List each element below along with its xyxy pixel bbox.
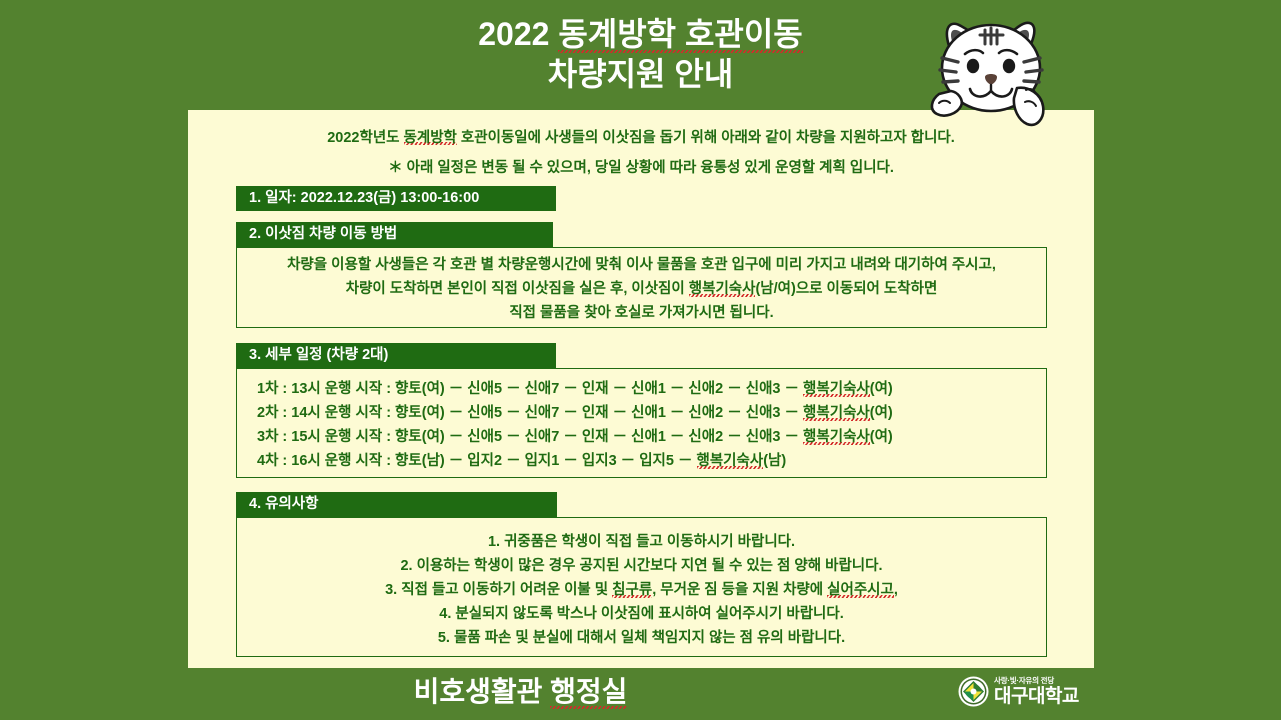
- notice-3-misspelled-2: 실어주시고: [827, 582, 894, 598]
- notice-3-misspelled-1: 침구류: [612, 582, 652, 598]
- route-2-misspelled: 행복기숙사: [803, 405, 870, 421]
- route-3-misspelled: 행복기숙사: [803, 429, 870, 445]
- intro-line-2: ＊ 아래 일정은 변동 될 수 있으며, 당일 상황에 따라 융통성 있게 운영…: [188, 160, 1094, 176]
- route-1-suffix: (여): [870, 381, 893, 397]
- route-4-misspelled: 행복기숙사: [697, 453, 764, 469]
- university-logo: 사랑·빛·자유의 전당 대구대학교: [958, 676, 1079, 707]
- section-header-schedule: 3. 세부 일정 (차량 2대): [236, 343, 556, 368]
- notice-3-b: , 무거운 짐 등을 지원 차량에: [652, 582, 827, 598]
- notice-item: 5. 물품 파손 및 분실에 대해서 일체 책임지지 않는 점 유의 바랍니다.: [237, 626, 1046, 650]
- route-row: 2차 : 14시 운행 시작 : 향토(여) － 신애5 － 신애7 － 인재 …: [237, 401, 1046, 425]
- method-line-2-b: (남/여)으로 이동되어 도착하면: [755, 281, 937, 297]
- section-header-notices: 4. 유의사항: [236, 492, 557, 517]
- footer-office-prefix: 비호생활관: [414, 676, 551, 707]
- section-header-date: 1. 일자: 2022.12.23(금) 13:00-16:00: [236, 186, 556, 211]
- title-line-1: 2022 동계방학 호관이동: [0, 14, 1281, 54]
- method-line-1: 차량을 이용할 사생들은 각 호관 별 차량운행시간에 맞춰 이사 물품을 호관…: [237, 253, 1046, 277]
- notice-3-a: 3. 직접 들고 이동하기 어려운 이불 및: [385, 582, 612, 598]
- section-body-schedule: 1차 : 13시 운행 시작 : 향토(여) － 신애5 － 신애7 － 인재 …: [236, 368, 1047, 478]
- route-1-text: 1차 : 13시 운행 시작 : 향토(여) － 신애5 － 신애7 － 인재 …: [257, 381, 803, 397]
- method-line-3: 직접 물품을 찾아 호실로 가져가시면 됩니다.: [237, 301, 1046, 325]
- notice-3-c: ,: [894, 582, 898, 598]
- route-row: 1차 : 13시 운행 시작 : 향토(여) － 신애5 － 신애7 － 인재 …: [237, 377, 1046, 401]
- section-body-method: 차량을 이용할 사생들은 각 호관 별 차량운행시간에 맞춰 이사 물품을 호관…: [236, 247, 1047, 328]
- title-line-2: 차량지원 안내: [0, 54, 1281, 94]
- route-1-misspelled: 행복기숙사: [803, 381, 870, 397]
- notice-panel: 2022학년도 동계방학 호관이동일에 사생들의 이삿짐을 돕기 위해 아래와 …: [188, 110, 1094, 668]
- section-body-notices: 1. 귀중품은 학생이 직접 들고 이동하시기 바랍니다. 2. 이용하는 학생…: [236, 517, 1047, 657]
- poster-title: 2022 동계방학 호관이동 차량지원 안내: [0, 14, 1281, 94]
- logo-tagline: 사랑·빛·자유의 전당: [994, 677, 1079, 685]
- notice-item: 2. 이용하는 학생이 많은 경우 공지된 시간보다 지연 될 수 있는 점 양…: [237, 554, 1046, 578]
- route-4-suffix: (남): [763, 453, 786, 469]
- route-3-text: 3차 : 15시 운행 시작 : 향토(여) － 신애5 － 신애7 － 인재 …: [257, 429, 803, 445]
- route-2-suffix: (여): [870, 405, 893, 421]
- title-misspelled-phrase: 동계방학 호관이동: [558, 14, 802, 54]
- section-header-method: 2. 이삿짐 차량 이동 방법: [236, 222, 553, 247]
- route-3-suffix: (여): [870, 429, 893, 445]
- route-4-text: 4차 : 16시 운행 시작 : 향토(남) － 입지2 － 입지1 － 입지3…: [257, 453, 697, 469]
- logo-university-name: 대구대학교: [994, 687, 1079, 706]
- intro-line-1-b: 호관이동일에 사생들의 이삿짐을 돕기 위해 아래와 같이 차량을 지원하고자 …: [457, 130, 955, 146]
- intro-line-1-a: 2022학년도: [327, 130, 403, 146]
- notice-item: 4. 분실되지 않도록 박스나 이삿짐에 표시하여 실어주시기 바랍니다.: [237, 602, 1046, 626]
- title-year: 2022: [478, 16, 558, 52]
- notice-item: 1. 귀중품은 학생이 직접 들고 이동하시기 바랍니다.: [237, 530, 1046, 554]
- intro-line-1: 2022학년도 동계방학 호관이동일에 사생들의 이삿짐을 돕기 위해 아래와 …: [188, 130, 1094, 146]
- route-row: 4차 : 16시 운행 시작 : 향토(남) － 입지2 － 입지1 － 입지3…: [237, 449, 1046, 473]
- footer-office-name: 비호생활관 행정실: [0, 674, 1281, 710]
- notice-item: 3. 직접 들고 이동하기 어려운 이불 및 침구류, 무거운 짐 등을 지원 …: [237, 578, 1046, 602]
- method-line-2: 차량이 도착하면 본인이 직접 이삿짐을 실은 후, 이삿짐이 행복기숙사(남/…: [237, 277, 1046, 301]
- route-2-text: 2차 : 14시 운행 시작 : 향토(여) － 신애5 － 신애7 － 인재 …: [257, 405, 803, 421]
- daegu-university-emblem-icon: [958, 676, 989, 707]
- route-row: 3차 : 15시 운행 시작 : 향토(여) － 신애5 － 신애7 － 인재 …: [237, 425, 1046, 449]
- method-line-2-misspelled: 행복기숙사: [689, 281, 756, 297]
- method-line-2-a: 차량이 도착하면 본인이 직접 이삿짐을 실은 후, 이삿짐이: [346, 281, 689, 297]
- intro-misspelled-phrase: 동계방학: [404, 130, 457, 146]
- footer-office-misspelled: 행정실: [550, 674, 627, 710]
